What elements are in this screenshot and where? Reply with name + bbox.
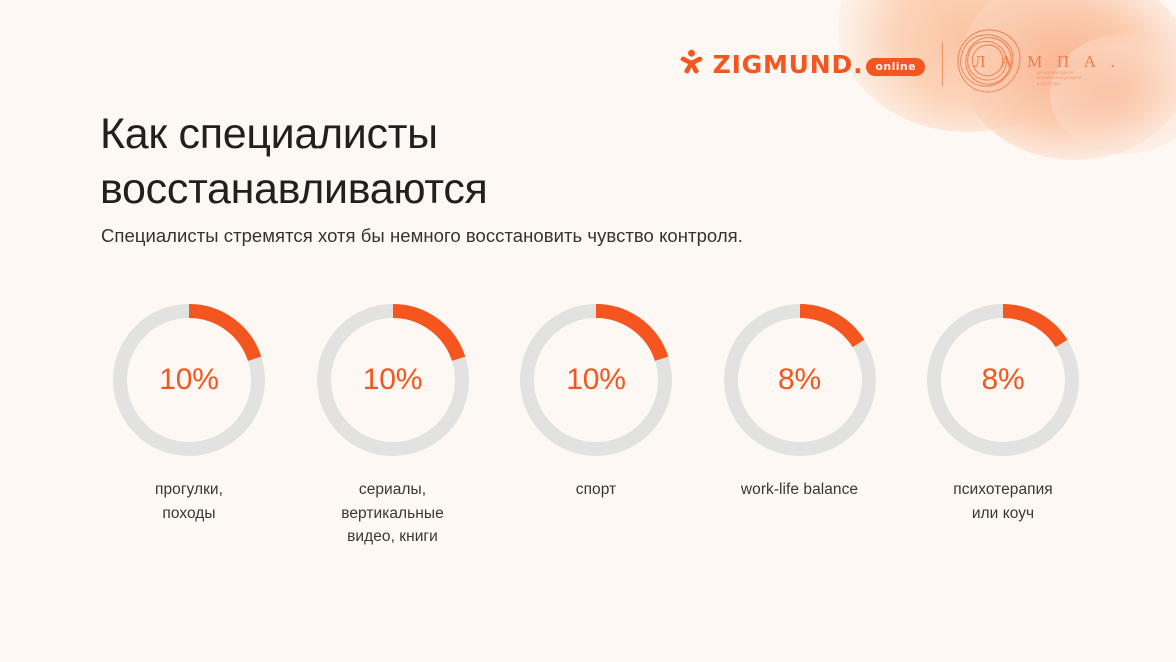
donut-value-label: 8%: [724, 304, 876, 456]
zigmund-figure-logo-icon: [678, 48, 705, 80]
donut-value-label: 10%: [520, 304, 672, 456]
donut-value-label: 10%: [317, 304, 469, 456]
zigmund-word-text: ZIGMUND: [713, 50, 853, 79]
donut-chart-item: 10%прогулки, походы: [100, 304, 278, 525]
donut-chart-item: 8%психотерапия или коуч: [914, 304, 1092, 525]
lampa-wordmark: Л А М П А .: [974, 53, 1120, 70]
donut-value-label: 8%: [927, 304, 1079, 456]
online-badge: online: [866, 58, 925, 76]
donut-category-label: психотерапия или коуч: [953, 478, 1053, 525]
zigmund-logo[interactable]: ZIGMUND.online: [678, 48, 925, 80]
donut-chart: 8%: [724, 304, 876, 456]
lampa-logo[interactable]: Л А М П А . международное коммуникационн…: [960, 33, 1092, 95]
donut-chart-item: 10%сериалы, вертикальные видео, книги: [304, 304, 482, 549]
donut-chart-item: 10%спорт: [507, 304, 685, 502]
logo-divider: [942, 42, 943, 86]
zigmund-dot: .: [853, 50, 863, 79]
donut-category-label: спорт: [576, 478, 616, 502]
donut-chart: 10%: [317, 304, 469, 456]
logo-bar: ZIGMUND.online Л А М П А . международное…: [678, 33, 1092, 95]
page-title: Как специалисты восстанавливаются: [100, 107, 740, 217]
donut-category-label: work-life balance: [741, 478, 858, 502]
donut-category-label: прогулки, походы: [155, 478, 223, 525]
zigmund-wordmark: ZIGMUND.online: [713, 52, 925, 77]
donut-chart: 10%: [113, 304, 265, 456]
donut-chart-item: 8%work-life balance: [711, 304, 889, 502]
donut-chart: 8%: [927, 304, 1079, 456]
donut-value-label: 10%: [113, 304, 265, 456]
page-subtitle: Специалисты стремятся хотя бы немного во…: [101, 223, 743, 249]
donut-chart-row: 10%прогулки, походы10%сериалы, вертикаль…: [100, 304, 1092, 549]
lampa-tagline: международное коммуникационное агентство: [1037, 71, 1095, 87]
donut-chart: 10%: [520, 304, 672, 456]
donut-category-label: сериалы, вертикальные видео, книги: [341, 478, 444, 549]
